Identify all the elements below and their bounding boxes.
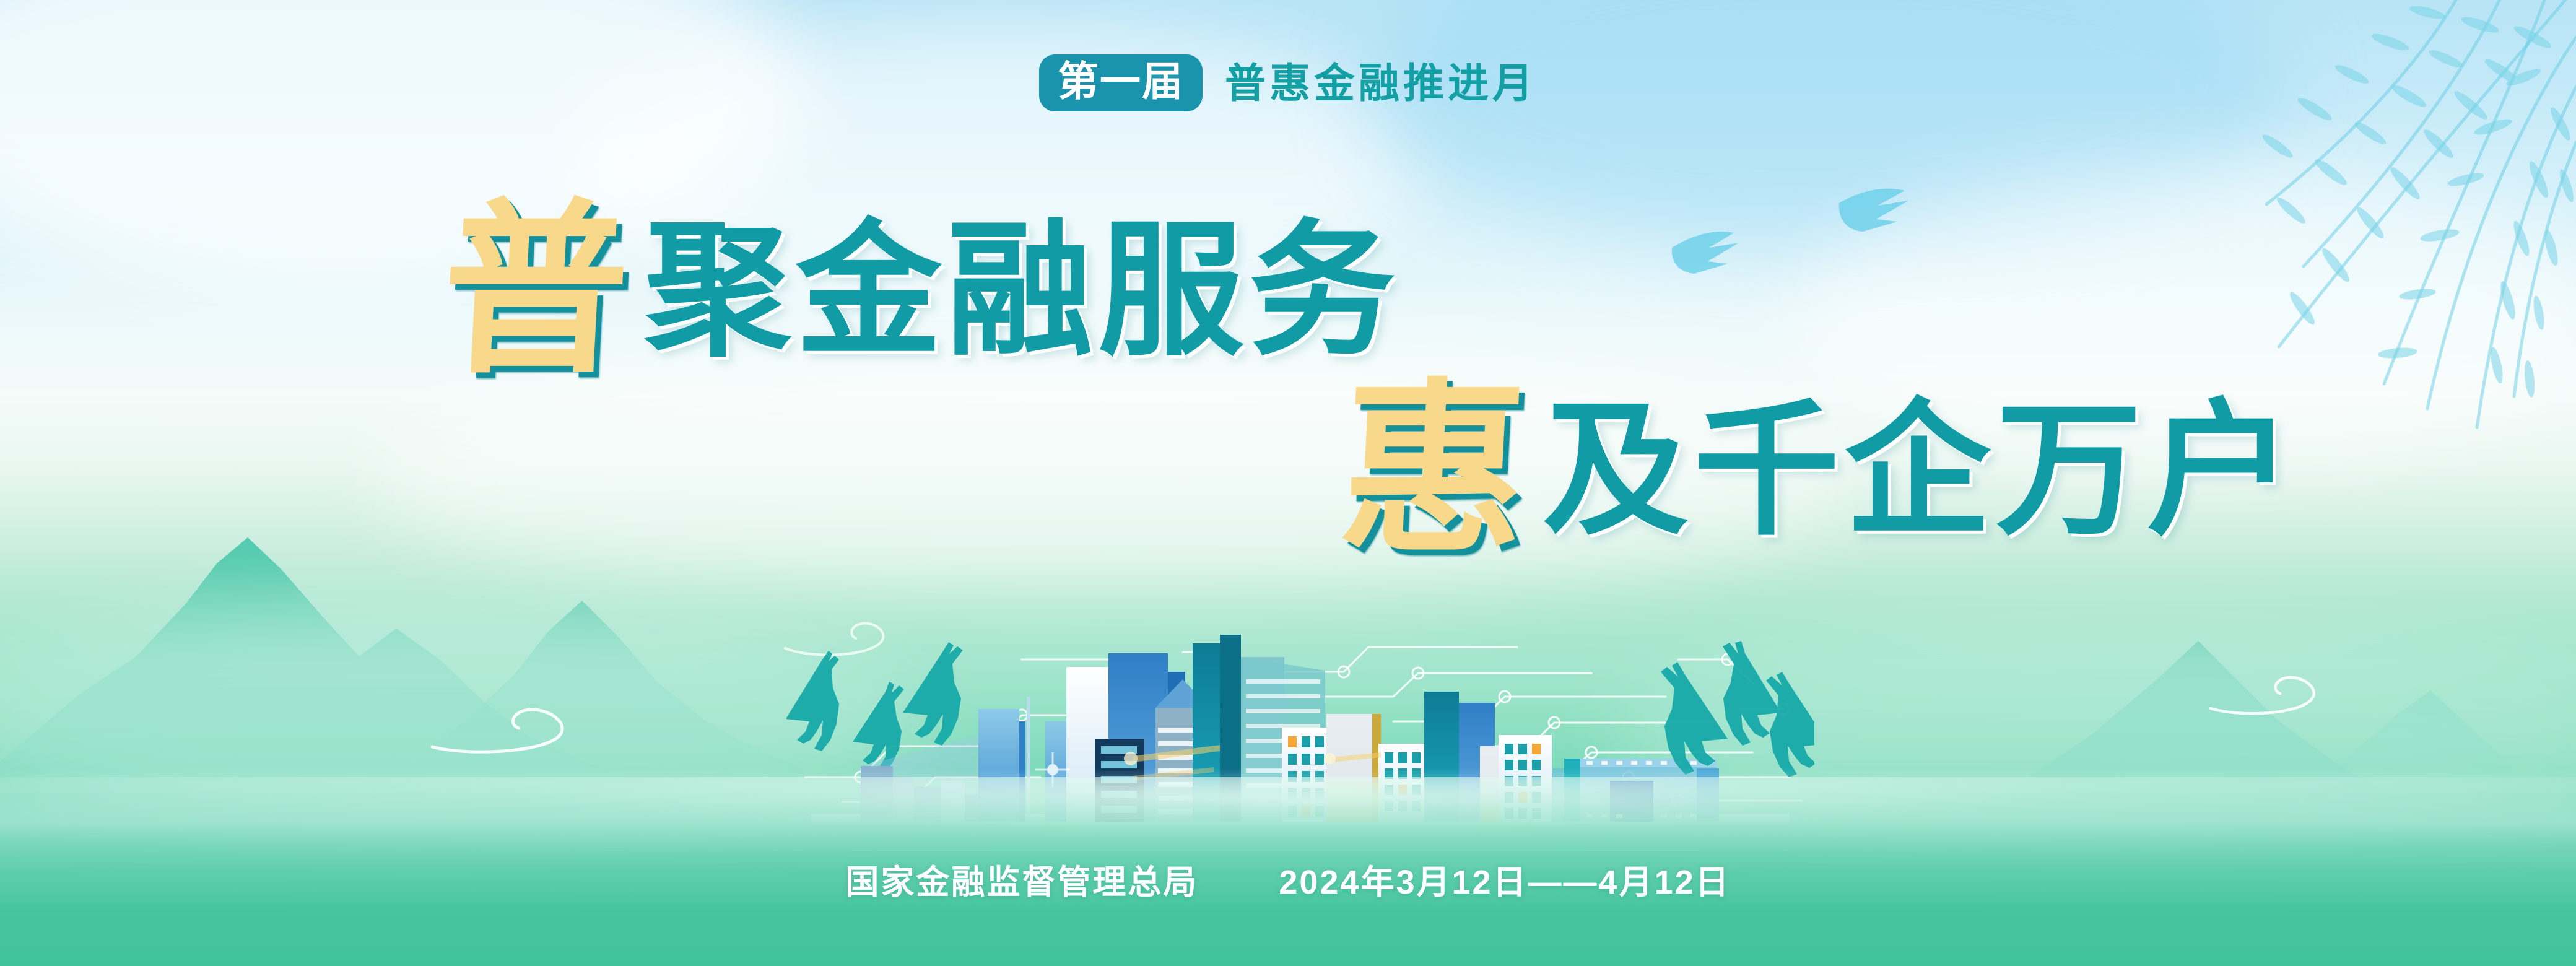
headline-accent-char-hui: 惠 (1336, 384, 1531, 555)
headline-line-1: 普 聚金融服务 (443, 204, 1400, 375)
headline-line-2-text: 及千企万户 (1543, 398, 2298, 555)
header-subtitle: 普惠金融推进月 (1225, 63, 1537, 103)
swallow-bird-icon (1635, 186, 2019, 390)
footer-date-range: 2024年3月12日——4月12日 (1279, 866, 1730, 899)
jumping-people-right (1661, 641, 1814, 777)
footer-organization: 国家金融监督管理总局 (845, 866, 1198, 899)
header-row: 第一届 普惠金融推进月 (0, 54, 2576, 111)
edition-badge: 第一届 (1039, 54, 1203, 111)
cloud-haze (1362, 0, 2291, 248)
headline-line-2: 惠 及千企万户 (1341, 384, 2298, 555)
headline-accent-char-pu: 普 (438, 204, 633, 375)
headline-line-1-text: 聚金融服务 (645, 218, 1400, 375)
poster-canvas: 第一届 普惠金融推进月 普 聚金融服务 惠 及千企万户 国家金融监督管理总局 2… (0, 0, 2576, 966)
footer-row: 国家金融监督管理总局 2024年3月12日——4月12日 (0, 866, 2576, 899)
